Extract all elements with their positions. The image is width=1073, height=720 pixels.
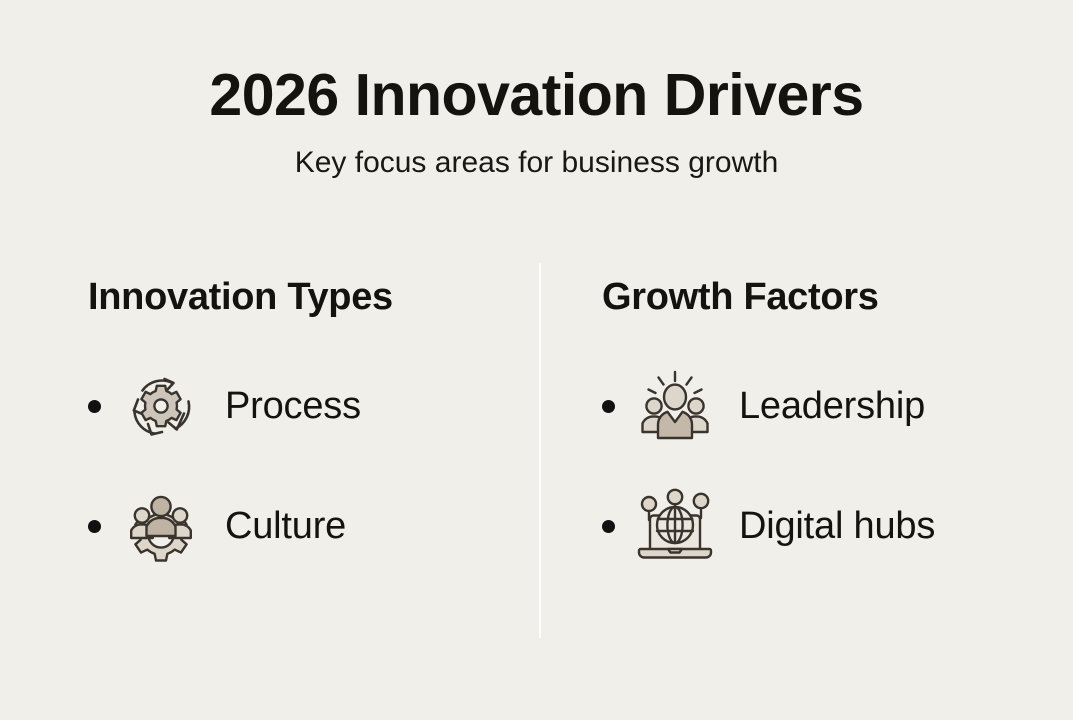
list-item[interactable]: Leadership bbox=[602, 364, 1042, 448]
list-item-label: Digital hubs bbox=[739, 507, 935, 545]
page-subtitle: Key focus areas for business growth bbox=[0, 125, 1073, 178]
leadership-people-rays-icon bbox=[635, 366, 715, 446]
page-title: 2026 Innovation Drivers bbox=[0, 66, 1073, 125]
list-item[interactable]: Culture bbox=[88, 484, 528, 568]
columns-container: Innovation Types bbox=[0, 262, 1073, 642]
bullet-icon bbox=[88, 400, 101, 413]
column-heading-left: Innovation Types bbox=[88, 262, 528, 316]
digital-hub-laptop-globe-icon bbox=[635, 486, 715, 566]
list-item-label: Leadership bbox=[739, 387, 925, 425]
list-innovation-types: Process bbox=[88, 316, 528, 568]
slide-header: 2026 Innovation Drivers Key focus areas … bbox=[0, 66, 1073, 178]
bullet-icon bbox=[88, 520, 101, 533]
bullet-icon bbox=[602, 520, 615, 533]
culture-people-gear-icon bbox=[121, 486, 201, 566]
list-item-label: Culture bbox=[225, 507, 346, 545]
bullet-icon bbox=[602, 400, 615, 413]
slide-canvas: 2026 Innovation Drivers Key focus areas … bbox=[0, 0, 1073, 720]
list-growth-factors: Leadership bbox=[602, 316, 1042, 568]
process-cycle-gear-icon bbox=[121, 366, 201, 446]
column-growth-factors: Growth Factors bbox=[602, 262, 1042, 604]
list-item[interactable]: Digital hubs bbox=[602, 484, 1042, 568]
list-item[interactable]: Process bbox=[88, 364, 528, 448]
list-item-label: Process bbox=[225, 387, 361, 425]
column-divider bbox=[539, 263, 541, 638]
column-innovation-types: Innovation Types bbox=[88, 262, 528, 604]
column-heading-right: Growth Factors bbox=[602, 262, 1042, 316]
